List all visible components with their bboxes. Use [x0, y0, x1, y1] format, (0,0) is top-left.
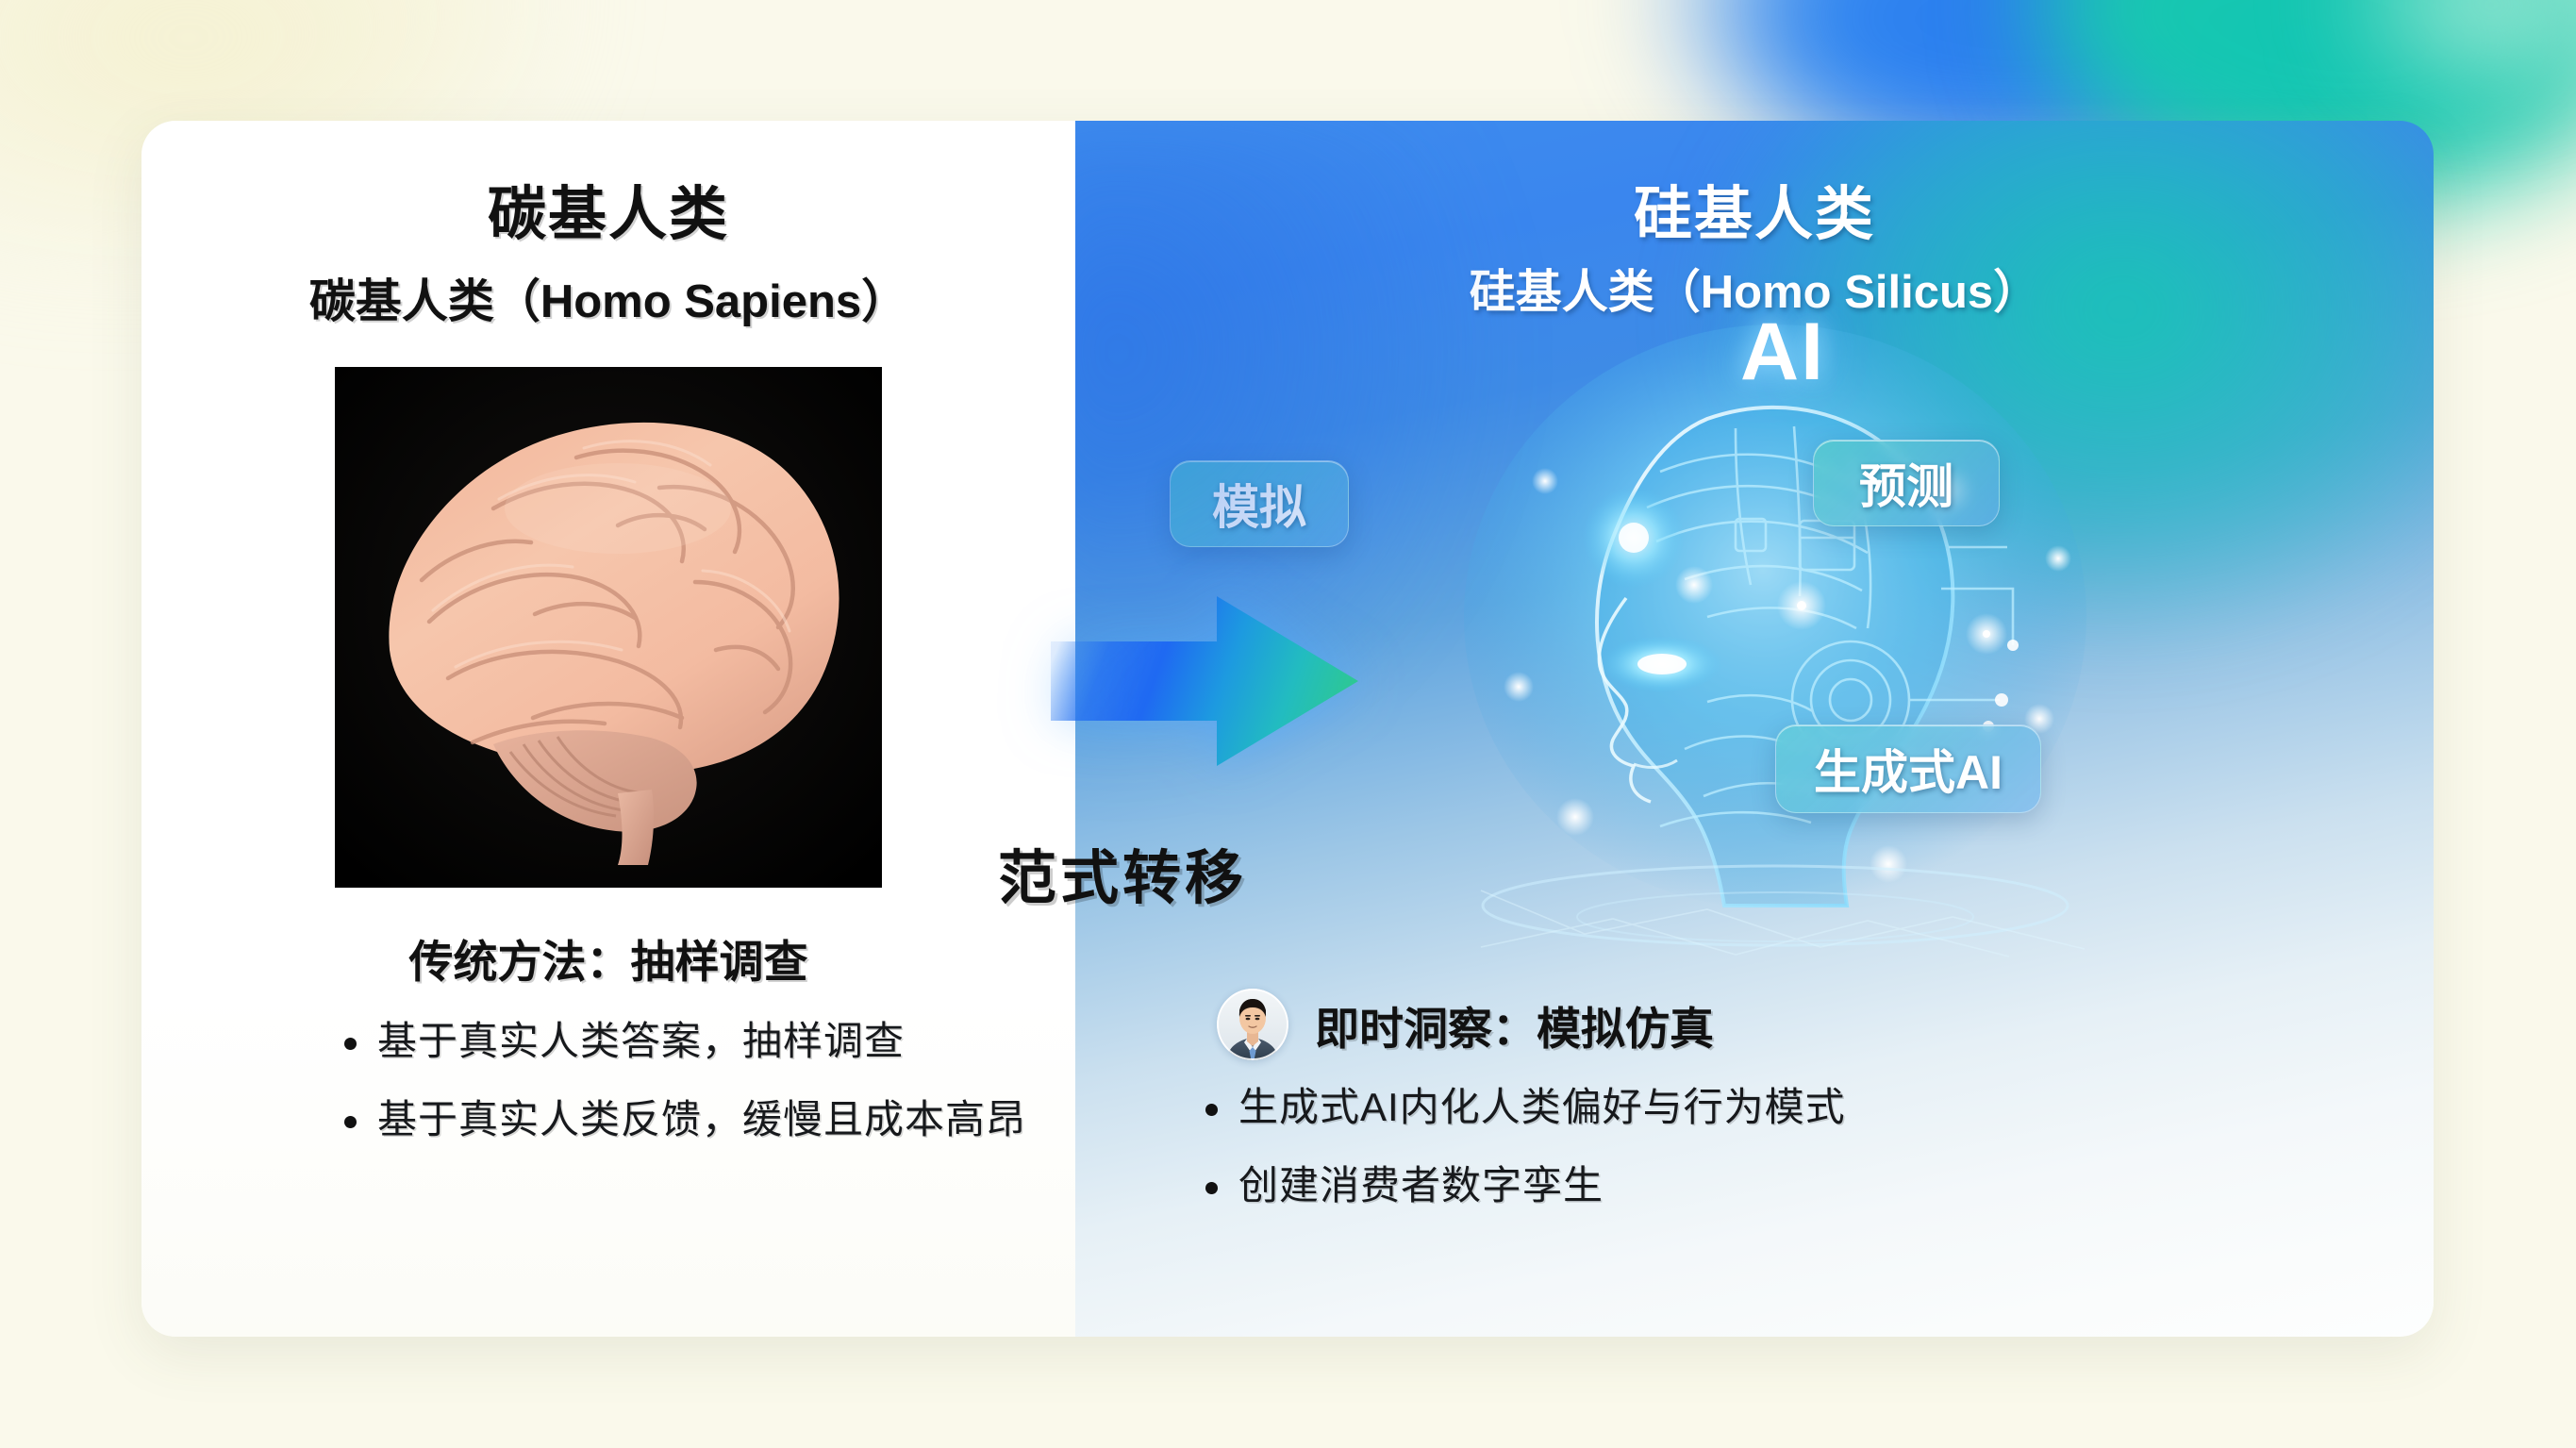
list-item-label: 基于真实人类答案，抽样调查	[377, 1017, 905, 1067]
bullet-dot-icon	[1205, 1182, 1218, 1194]
chip-generative-ai-label: 生成式AI	[1814, 735, 2003, 803]
list-item-label: 基于真实人类反馈，缓慢且成本高昂	[377, 1095, 1026, 1145]
left-panel-title: 碳基人类	[488, 166, 729, 251]
right-heading-row: 即时洞察：模拟仿真	[1217, 989, 1714, 1060]
avatar	[1217, 989, 1288, 1060]
right-bullet-list: 生成式AI内化人类偏好与行为模式 创建消费者数字孪生	[1205, 1083, 1846, 1239]
right-panel-title: 硅基人类	[1075, 166, 2434, 251]
chip-simulate-label: 模拟	[1212, 470, 1306, 538]
ai-label: AI	[1424, 306, 2141, 399]
list-item-label: 创建消费者数字孪生	[1238, 1161, 1604, 1211]
left-bullet-list: 基于真实人类答案，抽样调查 基于真实人类反馈，缓慢且成本高昂	[141, 1017, 1075, 1173]
chip-simulate[interactable]: 模拟	[1170, 460, 1349, 547]
left-panel-heading: 传统方法：抽样调查	[409, 925, 808, 990]
chip-generative-ai[interactable]: 生成式AI	[1775, 724, 2041, 813]
ai-robot-head-illustration: AI	[1424, 306, 2141, 966]
mint-gradient-blob	[2321, 0, 2576, 123]
bullet-dot-icon	[344, 1116, 357, 1128]
list-item: 创建消费者数字孪生	[1205, 1161, 1846, 1211]
right-panel-heading: 即时洞察：模拟仿真	[1315, 992, 1714, 1057]
carbon-human-panel: 碳基人类 碳基人类（Homo Sapiens）	[141, 121, 1075, 1337]
list-item-label: 生成式AI内化人类偏好与行为模式	[1238, 1083, 1846, 1133]
chip-predict-label: 预测	[1859, 449, 1953, 517]
paradigm-shift-arrow-icon	[1049, 587, 1360, 775]
list-item: 生成式AI内化人类偏好与行为模式	[1205, 1083, 1846, 1133]
paradigm-shift-label: 范式转移	[924, 830, 1321, 915]
bullet-dot-icon	[344, 1038, 357, 1050]
list-item: 基于真实人类反馈，缓慢且成本高昂	[344, 1095, 1075, 1145]
left-panel-subtitle: 碳基人类（Homo Sapiens）	[309, 264, 907, 331]
human-brain-photo	[335, 367, 882, 888]
chip-predict[interactable]: 预测	[1813, 440, 2000, 526]
bullet-dot-icon	[1205, 1104, 1218, 1116]
list-item: 基于真实人类答案，抽样调查	[344, 1017, 1075, 1067]
